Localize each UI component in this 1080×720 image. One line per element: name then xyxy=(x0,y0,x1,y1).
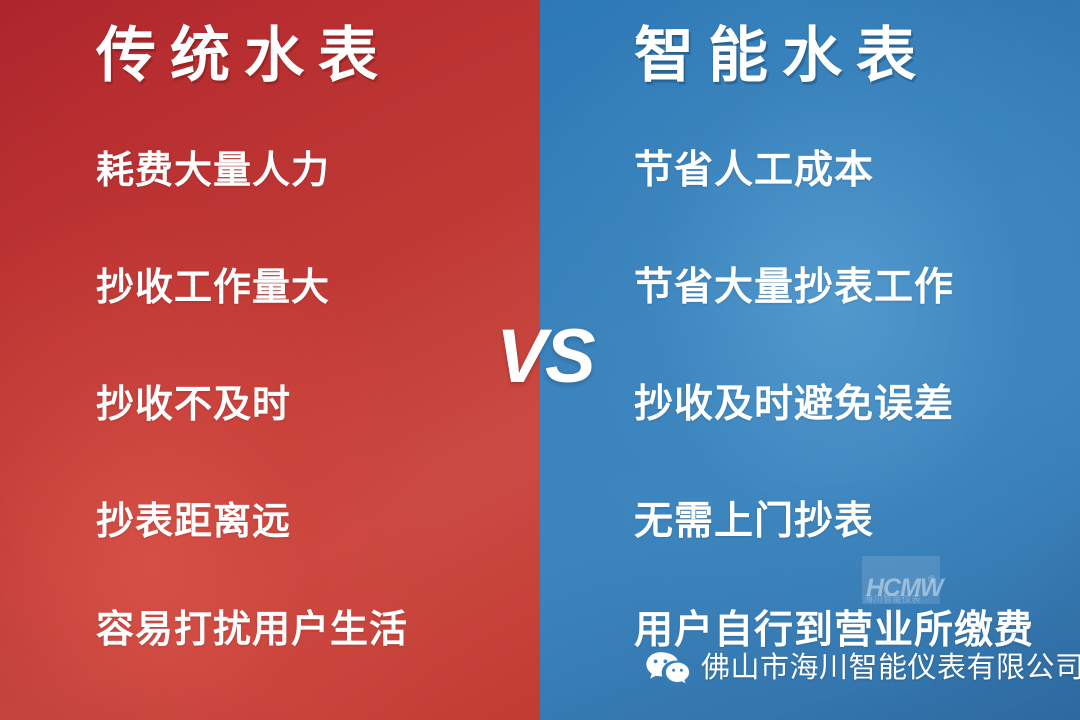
left-column-title: 传统水表 xyxy=(96,22,392,89)
versus-badge: VS xyxy=(495,312,595,402)
list-item: 抄收不及时 xyxy=(96,346,536,463)
traditional-meter-column: 传统水表 耗费大量人力 抄收工作量大 抄收不及时 抄表距离远 容易打扰用户生活 xyxy=(0,0,540,720)
right-column-title: 智能水表 xyxy=(634,22,930,89)
list-item: 抄收及时避免误差 xyxy=(634,346,1074,463)
wechat-icon xyxy=(645,650,691,686)
comparison-poster: 传统水表 耗费大量人力 抄收工作量大 抄收不及时 抄表距离远 容易打扰用户生活 … xyxy=(0,0,1080,720)
list-item: 容易打扰用户生活 xyxy=(96,580,536,680)
right-bullet-list: 节省人工成本 节省大量抄表工作 抄收及时避免误差 无需上门抄表 用户自行到营业所… xyxy=(634,112,1074,680)
left-bullet-list: 耗费大量人力 抄收工作量大 抄收不及时 抄表距离远 容易打扰用户生活 xyxy=(96,112,536,680)
smart-meter-column: 智能水表 节省人工成本 节省大量抄表工作 抄收及时避免误差 无需上门抄表 用户自… xyxy=(540,0,1080,720)
footer-credit: 佛山市海川智能仪表有限公司 xyxy=(645,650,1080,686)
list-item: 节省大量抄表工作 xyxy=(634,229,1074,346)
list-item: 抄表距离远 xyxy=(96,463,536,580)
list-item: 节省人工成本 xyxy=(634,112,1074,229)
list-item: 无需上门抄表 xyxy=(634,463,1074,580)
company-name: 佛山市海川智能仪表有限公司 xyxy=(701,654,1080,683)
list-item: 抄收工作量大 xyxy=(96,229,536,346)
list-item: 耗费大量人力 xyxy=(96,112,536,229)
